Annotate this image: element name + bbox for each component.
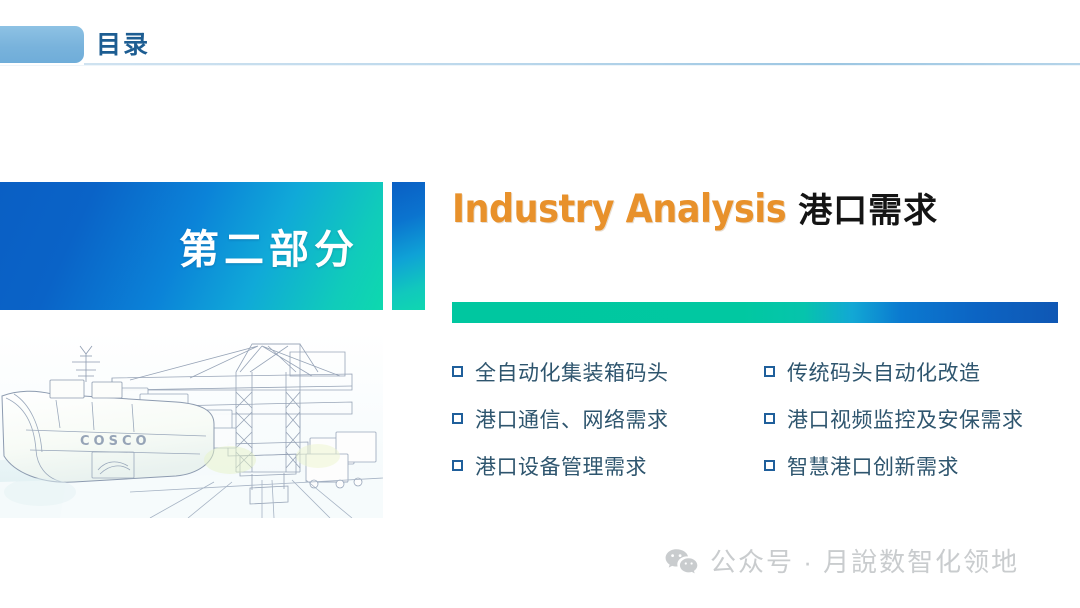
title-gradient-bar [452, 302, 1058, 323]
list-item-label: 全自动化集装箱码头 [475, 357, 669, 387]
list-item[interactable]: 全自动化集装箱码头 [452, 357, 764, 387]
header-divider-soft [0, 65, 1080, 66]
watermark-text: 公众号 · 月說数智化领地 [710, 542, 1019, 579]
list-item[interactable]: 港口视频监控及安保需求 [764, 404, 1062, 434]
list-item-label: 港口设备管理需求 [475, 451, 647, 481]
wechat-icon [664, 547, 698, 575]
square-bullet-icon [764, 413, 775, 424]
list-item-label: 港口通信、网络需求 [475, 404, 669, 434]
watermark: 公众号 · 月說数智化领地 [664, 542, 1019, 579]
list-item[interactable]: 港口通信、网络需求 [452, 404, 764, 434]
list-item-label: 传统码头自动化改造 [787, 357, 981, 387]
square-bullet-icon [452, 366, 463, 377]
square-bullet-icon [764, 366, 775, 377]
topic-list: 全自动化集装箱码头 传统码头自动化改造 港口通信、网络需求 港口视频监控及安保需… [452, 348, 1062, 489]
ship-port-sketch-icon: COSCO [0, 332, 383, 518]
section-part-label: 第二部分 [179, 217, 359, 275]
list-item[interactable]: 智慧港口创新需求 [764, 451, 1062, 481]
main-title-cn: 港口需求 [798, 192, 938, 230]
square-bullet-icon [764, 460, 775, 471]
page-title: 目录 [96, 28, 150, 62]
list-item-label: 智慧港口创新需求 [787, 451, 959, 481]
list-item[interactable]: 港口设备管理需求 [452, 451, 764, 481]
port-ship-illustration: COSCO [0, 332, 383, 518]
list-row: 全自动化集装箱码头 传统码头自动化改造 [452, 348, 1062, 395]
square-bullet-icon [452, 460, 463, 471]
main-title-en: Industry Analysis [452, 187, 786, 232]
list-row: 港口通信、网络需求 港口视频监控及安保需求 [452, 395, 1062, 442]
svg-text:COSCO: COSCO [80, 434, 151, 449]
header-tab-shape [0, 26, 84, 63]
square-bullet-icon [452, 413, 463, 424]
section-part-panel: 第二部分 [0, 182, 383, 310]
main-title: Industry Analysis港口需求 [452, 186, 938, 242]
slide-canvas: 目录 第二部分 [0, 0, 1080, 608]
list-item-label: 港口视频监控及安保需求 [787, 404, 1024, 434]
list-row: 港口设备管理需求 智慧港口创新需求 [452, 442, 1062, 489]
section-accent-bar [392, 182, 425, 310]
list-item[interactable]: 传统码头自动化改造 [764, 357, 1062, 387]
